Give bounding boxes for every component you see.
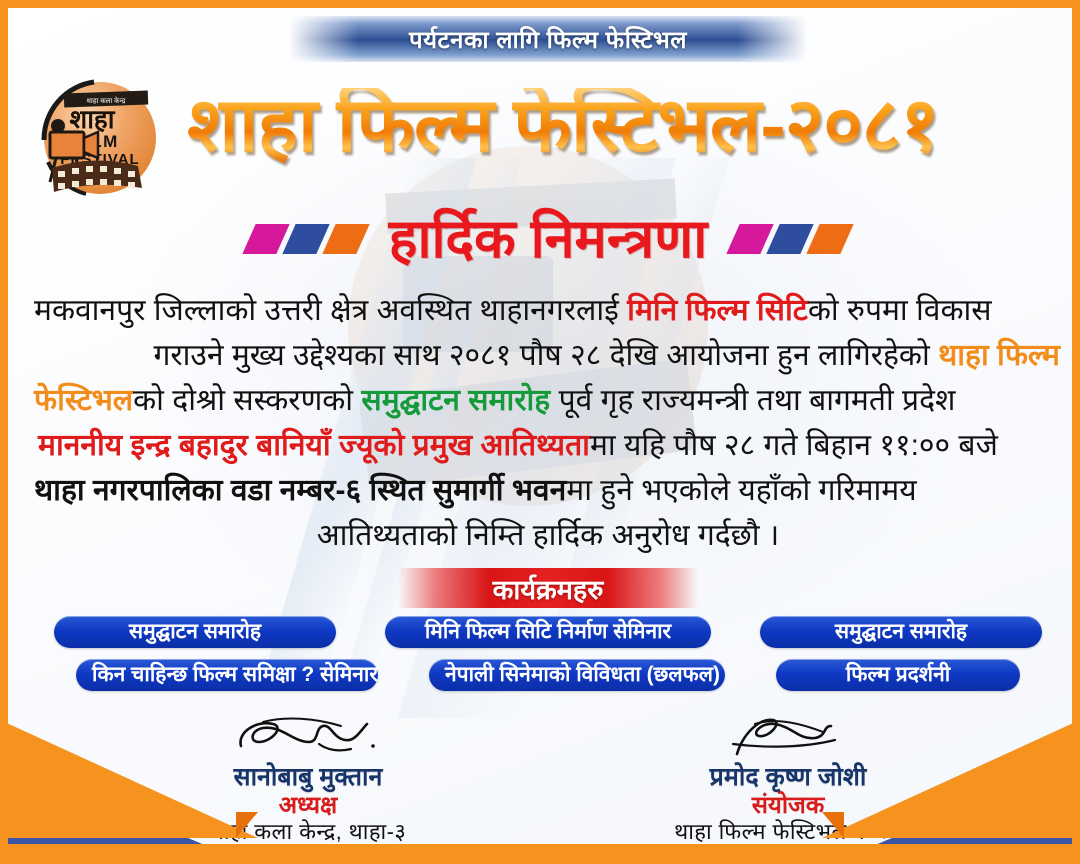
chevron-blue-icon <box>282 224 329 254</box>
programs-heading-text: कार्यक्रमहरु <box>493 570 604 607</box>
chevron-pink-icon <box>727 224 774 254</box>
body-line-6: आतिथ्यताको निम्ति हार्दिक अनुरोध गर्दछौ … <box>32 513 1064 558</box>
tagline-text: पर्यटनका लागि फिल्म फेस्टिभल <box>409 23 687 56</box>
body-line-4: माननीय इन्द्र बहादुर बानियाँ ज्यूको प्रम… <box>32 423 1064 468</box>
invitation-body: मकवानपुर जिल्लाको उत्तरी क्षेत्र अवस्थित… <box>32 288 1064 558</box>
body-text-segment: को रुपमा विकास <box>808 294 992 327</box>
chevron-group-left <box>249 224 363 254</box>
programs-row-2: किन चाहिन्छ फिल्म समिक्षा ? सेमिनार नेपा… <box>54 659 1042 691</box>
programs-list: समुद्घाटन समारोह मिनि फिल्म सिटि निर्माण… <box>54 616 1042 702</box>
chevron-orange-icon <box>322 224 369 254</box>
programs-heading: कार्यक्रमहरु <box>398 568 698 608</box>
bottom-border-strip <box>0 844 1080 864</box>
program-item[interactable]: समुद्घाटन समारोह <box>54 616 336 648</box>
body-line-1: मकवानपुर जिल्लाको उत्तरी क्षेत्र अवस्थित… <box>32 288 1064 333</box>
body-text-segment: मा हुने भएकोले यहाँको गरिमामय <box>566 474 916 507</box>
highlight-venue: थाहा नगरपालिका वडा नम्बर-६ स्थित सुमार्ग… <box>34 474 566 507</box>
highlight-inauguration: समुद्घाटन समारोह <box>361 384 550 417</box>
poster-title-text: शाहा फिल्म फेस्टिभल-२०८१ <box>187 88 939 164</box>
program-item[interactable]: किन चाहिन्छ फिल्म समिक्षा ? सेमिनार <box>76 659 378 691</box>
body-text-segment: पूर्व गृह राज्यमन्त्री तथा बागमती प्रदेश <box>550 384 955 417</box>
svg-text:शाहा: शाहा <box>70 104 116 134</box>
poster-title: शाहा फिल्म फेस्टिभल-२०८१ <box>168 70 958 182</box>
program-item[interactable]: फिल्म प्रदर्शनी <box>776 659 1020 691</box>
chevron-group-right <box>733 224 847 254</box>
body-text-segment: मा यहि पौष २८ गते बिहान ११:०० बजे <box>590 429 998 462</box>
highlight-mini-film-city: मिनि फिल्म सिटि <box>627 294 808 327</box>
body-text-segment: मकवानपुर जिल्लाको उत्तरी क्षेत्र अवस्थित… <box>34 294 627 327</box>
festival-logo: थाहा कला केन्द्र शाहा FILM FESTIVAL <box>34 70 159 200</box>
body-line-5: थाहा नगरपालिका वडा नम्बर-६ स्थित सुमार्ग… <box>32 468 1064 513</box>
body-text-segment: आतिथ्यताको निम्ति हार्दिक अनुरोध गर्दछौ … <box>317 519 779 552</box>
chevron-orange-icon <box>807 224 854 254</box>
body-line-3: फेस्टिभलको दोश्रो सस्करणको समुद्घाटन समा… <box>32 378 1064 423</box>
program-item[interactable]: समुद्घाटन समारोह <box>760 616 1042 648</box>
corner-decoration-bottom-right-accent <box>822 812 844 838</box>
invitation-poster: पर्यटनका लागि फिल्म फेस्टिभल थाहा कला के… <box>0 0 1080 864</box>
highlight-chief-guest: माननीय इन्द्र बहादुर बानियाँ ज्यूको प्रम… <box>38 429 590 462</box>
corner-decoration-bottom-left-orange <box>0 720 258 838</box>
corner-decoration-bottom-right-orange <box>822 720 1080 838</box>
chevron-pink-icon <box>242 224 289 254</box>
tagline-banner: पर्यटनका लागि फिल्म फेस्टिभल <box>288 16 808 62</box>
invitation-heading-row: हार्दिक निमन्त्रणा <box>8 204 1080 274</box>
program-item[interactable]: नेपाली सिनेमाको विविधता (छलफल) <box>429 659 725 691</box>
body-text-segment: को दोश्रो सस्करणको <box>133 384 361 417</box>
body-line-2: गराउने मुख्य उद्देश्यका साथ २०८१ पौष २८ … <box>32 333 1064 378</box>
highlight-festival: फेस्टिभल <box>34 384 133 417</box>
body-text-segment: गराउने मुख्य उद्देश्यका साथ २०८१ पौष २८ … <box>153 339 938 372</box>
chevron-blue-icon <box>767 224 814 254</box>
invitation-heading-text: हार्दिक निमन्त्रणा <box>389 211 707 268</box>
corner-decoration-bottom-left-accent <box>236 812 258 838</box>
programs-row-1: समुद्घाटन समारोह मिनि फिल्म सिटि निर्माण… <box>54 616 1042 648</box>
highlight-thaha-film: थाहा फिल्म <box>938 339 1060 372</box>
program-item[interactable]: मिनि फिल्म सिटि निर्माण सेमिनार <box>385 616 711 648</box>
festival-logo-icon: थाहा कला केन्द्र शाहा FILM FESTIVAL <box>34 70 159 200</box>
